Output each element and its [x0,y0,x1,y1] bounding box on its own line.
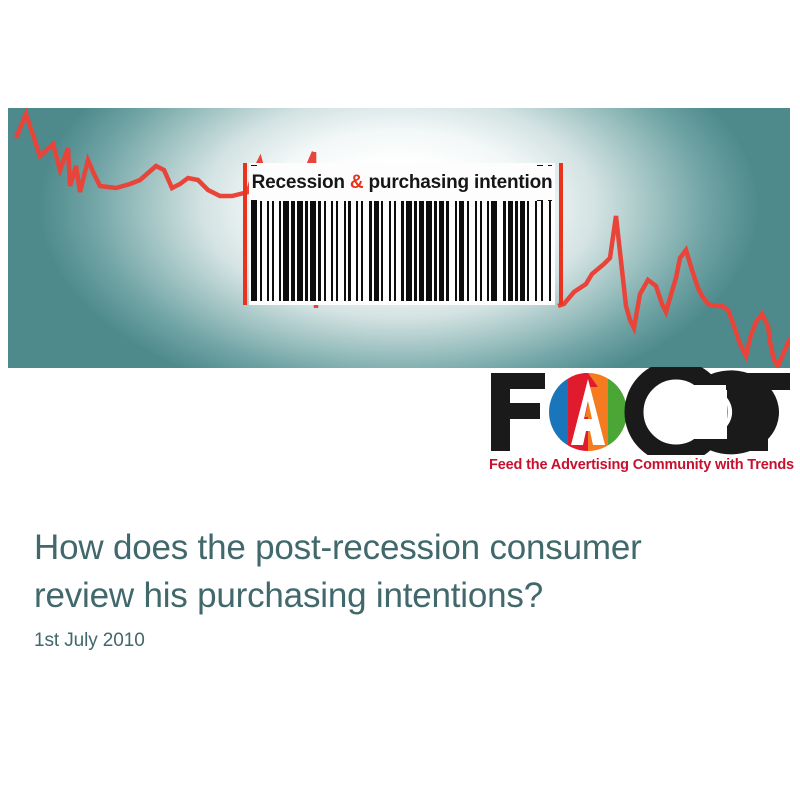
barcode-bar [251,201,257,301]
page-title-line-2: review his purchasing intentions? [34,572,764,620]
barcode-bar [508,201,513,301]
logo-letter-a-wheel [549,373,629,451]
barcode-bar [434,201,437,301]
barcode-bar [381,201,383,301]
barcode-bar [480,201,482,301]
barcode-bar [475,201,477,301]
barcode-bar [291,201,295,301]
barcode-bar [394,201,396,301]
barcode-bar [535,201,537,301]
barcode-bar [297,201,303,301]
barcode-bar [374,201,379,301]
barcode-field: Recession & purchasing intention [249,163,555,305]
publication-date: 1st July 2010 [34,630,145,652]
fact-wordmark [487,367,792,455]
barcode-guard-right [559,163,563,305]
logo-letter-f [491,373,545,451]
stock-line-right [558,216,790,366]
barcode-bar [348,201,351,301]
barcode-bar [310,201,316,301]
barcode-bar [260,201,262,301]
barcode-bar [356,201,358,301]
barcode-title-suffix: purchasing intention [363,172,552,193]
barcode-title-prefix: Recession [252,172,350,193]
page-title: How does the post-recession consumer rev… [34,524,764,620]
barcode-title: Recession & purchasing intention [249,166,555,200]
barcode-bar [520,201,525,301]
barcode-bar [369,201,372,301]
barcode-bar [324,201,326,301]
barcode-bar [389,201,391,301]
logo-letter-c-mouth [683,385,727,439]
barcode-bar [305,201,308,301]
barcode-bar [515,201,518,301]
logo-tagline: Feed the Advertising Community with Tren… [489,457,792,473]
barcode-bar [344,201,346,301]
barcode-bar [426,201,432,301]
recession-banner: Recession & purchasing intention [8,108,790,368]
barcode-bar [459,201,464,301]
barcode-bar [446,201,449,301]
barcode-graphic: Recession & purchasing intention [243,163,563,305]
barcode-bar [406,201,412,301]
barcode-bar [527,201,529,301]
barcode-bar [414,201,417,301]
barcode-bar [283,201,289,301]
barcode-bar [491,201,497,301]
barcode-bar [272,201,274,301]
barcode-bar [419,201,424,301]
barcode-bar [549,201,551,301]
fact-logo: Feed the Advertising Community with Tren… [487,367,792,477]
barcode-bar [361,201,363,301]
barcode-bars [249,201,555,301]
barcode-guard-left [243,163,247,305]
barcode-bar [336,201,338,301]
barcode-bar [487,201,489,301]
barcode-bar [439,201,444,301]
barcode-bar [267,201,269,301]
barcode-bar [455,201,457,301]
page-title-line-1: How does the post-recession consumer [34,524,764,572]
barcode-bar [503,201,506,301]
barcode-bar [318,201,321,301]
barcode-bar [279,201,281,301]
barcode-title-ampersand: & [350,172,364,193]
barcode-bar [541,201,543,301]
barcode-bar [331,201,333,301]
barcode-bar [401,201,404,301]
barcode-bar [467,201,469,301]
